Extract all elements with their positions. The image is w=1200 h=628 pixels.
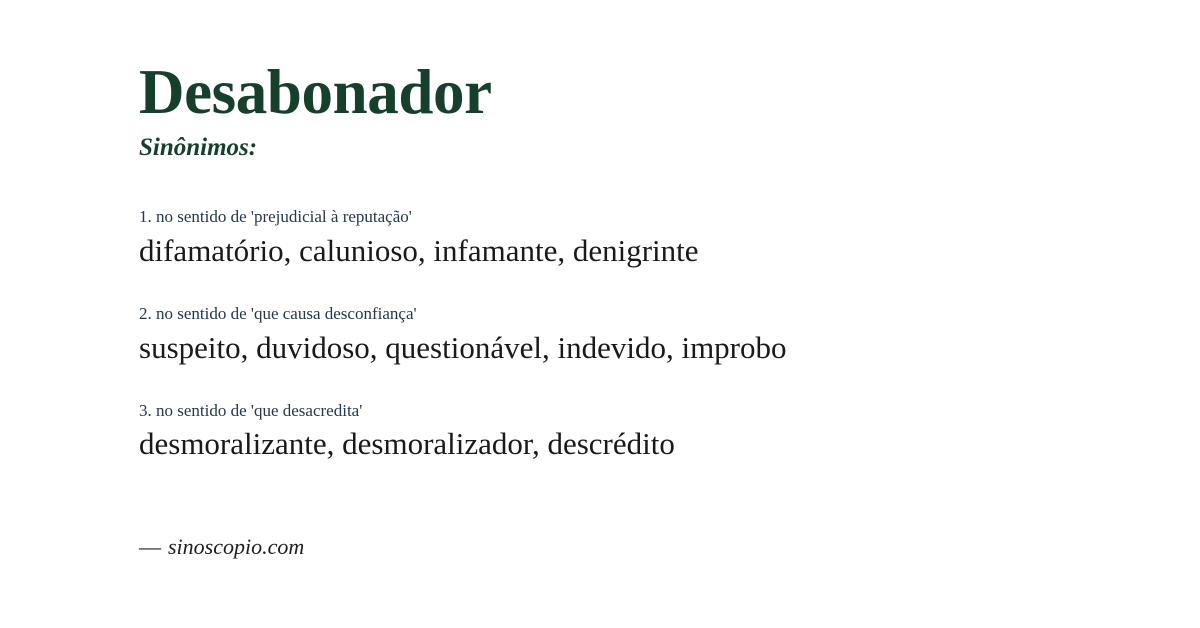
subtitle-synonyms: Sinônimos:: [139, 134, 257, 163]
list-item: 3. no sentido de 'que desacredita' desmo…: [139, 400, 1160, 464]
sense-list: 1. no sentido de 'prejudicial à reputaçã…: [139, 206, 1160, 463]
sense-synonyms: desmoralizante, desmoralizador, descrédi…: [139, 425, 1160, 463]
list-item: 2. no sentido de 'que causa desconfiança…: [139, 303, 1160, 367]
sense-label: 1. no sentido de 'prejudicial à reputaçã…: [139, 206, 1160, 229]
em-dash-icon: —: [139, 534, 168, 559]
synonym-card: Desabonador Sinônimos: 1. no sentido de …: [0, 0, 1200, 628]
list-item: 1. no sentido de 'prejudicial à reputaçã…: [139, 206, 1160, 270]
sense-synonyms: difamatório, calunioso, infamante, denig…: [139, 232, 1160, 270]
sense-synonyms: suspeito, duvidoso, questionável, indevi…: [139, 329, 1160, 367]
attribution: —sinoscopio.com: [139, 534, 304, 560]
page-title: Desabonador: [139, 60, 492, 124]
sense-label: 2. no sentido de 'que causa desconfiança…: [139, 303, 1160, 326]
source-name: sinoscopio.com: [168, 534, 304, 559]
sense-label: 3. no sentido de 'que desacredita': [139, 400, 1160, 423]
